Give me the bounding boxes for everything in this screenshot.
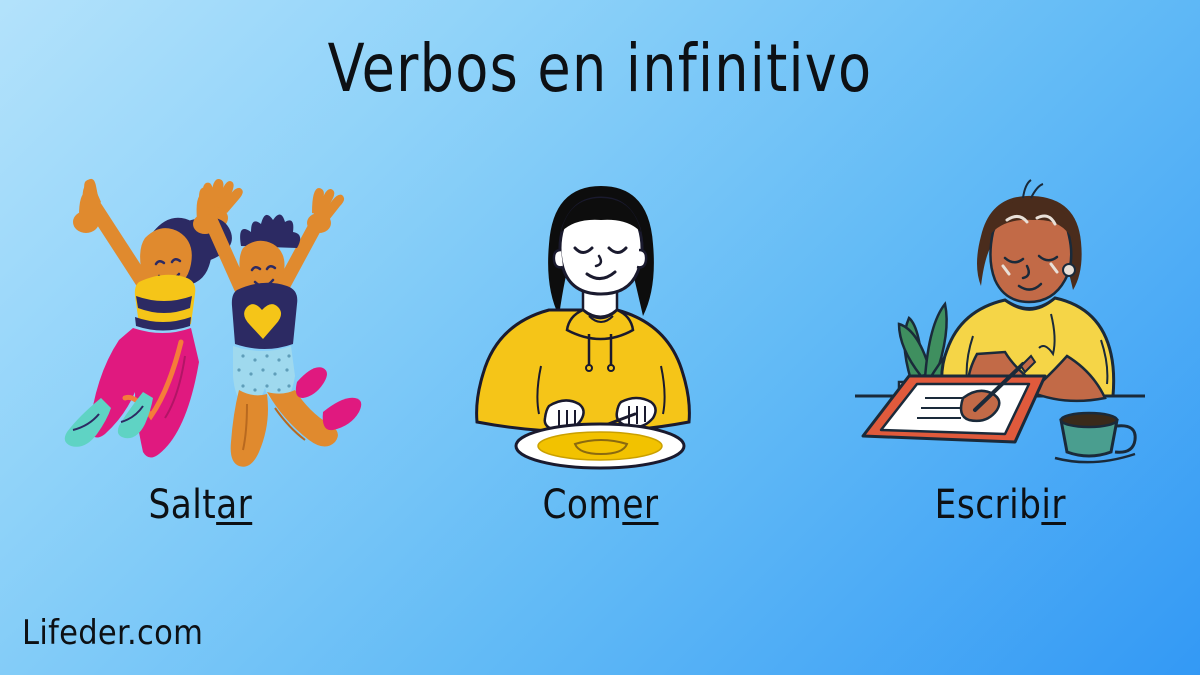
- watermark-lifeder: Lifeder.com: [22, 613, 203, 653]
- illustration-person-eating: [475, 150, 725, 470]
- verb-label-saltar: Saltar: [148, 482, 252, 528]
- verb-column-saltar: Saltar: [0, 150, 400, 570]
- page-title: Verbos en infinitivo: [108, 30, 1092, 107]
- verb-ending: ar: [216, 482, 252, 528]
- verb-ending: er: [622, 482, 658, 528]
- verb-stem: Escrib: [934, 482, 1041, 528]
- illustration-two-people-jumping: [35, 150, 365, 470]
- verb-column-escribir: Escribir: [800, 150, 1200, 570]
- verb-ending: ir: [1041, 482, 1066, 528]
- verb-label-escribir: Escribir: [934, 482, 1065, 528]
- verb-column-comer: Comer: [400, 150, 800, 570]
- verb-stem: Com: [542, 482, 622, 528]
- illustration-person-writing: [855, 150, 1145, 470]
- verb-label-comer: Comer: [542, 482, 658, 528]
- verb-columns: Saltar: [0, 150, 1200, 570]
- verb-stem: Salt: [148, 482, 216, 528]
